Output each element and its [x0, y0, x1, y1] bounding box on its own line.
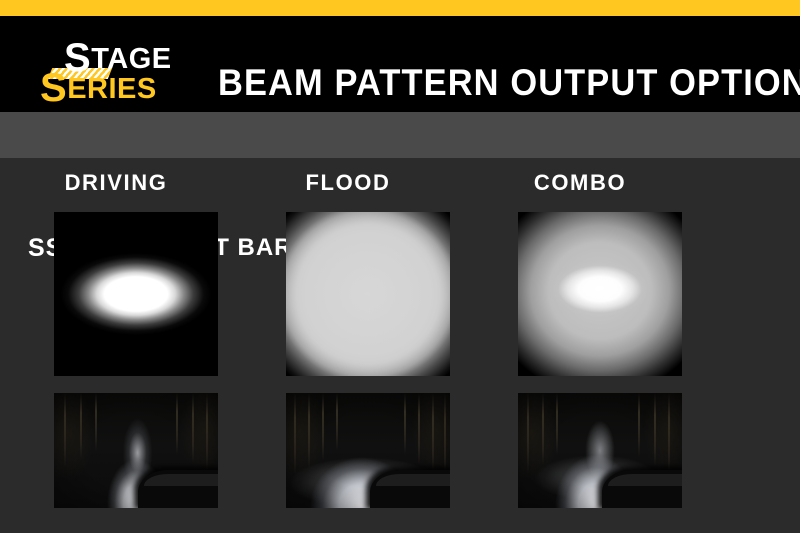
- column-title-driving: DRIVING: [0, 170, 232, 196]
- beam-option-column: FLOOD: [232, 158, 464, 533]
- logo-series-rest: ERIES: [67, 73, 157, 105]
- beam-glow-core: [286, 212, 450, 376]
- logo-series-capital: S: [40, 66, 67, 110]
- column-title-flood: FLOOD: [232, 170, 464, 196]
- beam-options-grid: DRIVING FLOOD: [0, 158, 800, 533]
- combo-beam-pattern: [518, 212, 682, 376]
- beam-option-column: DRIVING: [0, 158, 232, 533]
- stage-series-logo: STAGE SERIES: [36, 38, 186, 112]
- flood-road-photo: [286, 393, 450, 508]
- page-title: BEAM PATTERN OUTPUT OPTIONS: [218, 62, 800, 104]
- flood-beam-pattern: [286, 212, 450, 376]
- vehicle-hood-silhouette: [138, 470, 218, 508]
- beam-glow-core: [518, 212, 682, 376]
- logo-word-series: SERIES: [40, 68, 157, 108]
- top-accent-stripe: [0, 0, 800, 16]
- vehicle-hood-silhouette: [602, 470, 682, 508]
- beam-pattern-infographic: STAGE SERIES BEAM PATTERN OUTPUT OPTIONS…: [0, 0, 800, 533]
- column-title-combo: COMBO: [464, 170, 696, 196]
- driving-beam-pattern: [54, 212, 218, 376]
- beam-option-column: COMBO: [464, 158, 696, 533]
- subtitle-band: SS30 30″ LIGHT BAR: [0, 112, 800, 158]
- vehicle-hood-silhouette: [370, 470, 450, 508]
- header-band: STAGE SERIES BEAM PATTERN OUTPUT OPTIONS: [0, 16, 800, 112]
- combo-road-photo: [518, 393, 682, 508]
- driving-road-photo: [54, 393, 218, 508]
- beam-glow-base: [54, 212, 218, 376]
